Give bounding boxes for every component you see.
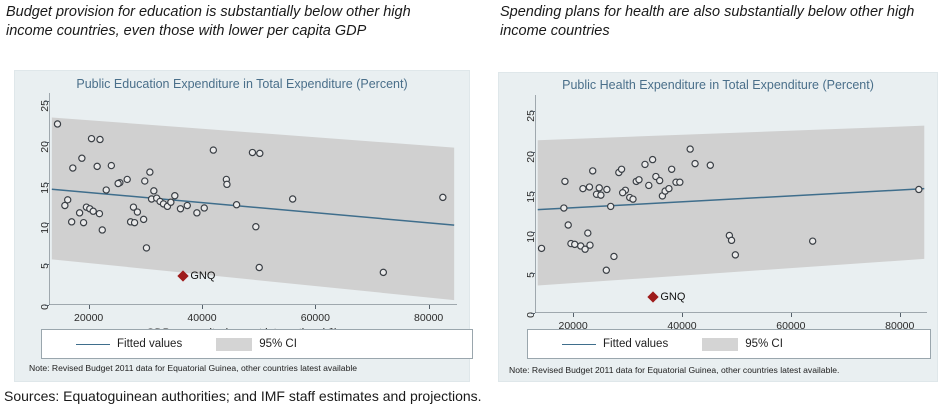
gnq-marker-education: GNQ <box>179 270 215 282</box>
x-tick-mark <box>682 313 683 317</box>
x-tick-label: 60000 <box>301 312 330 324</box>
fitted-values-label: Fitted values <box>603 338 668 350</box>
scatter-point <box>131 220 137 226</box>
scatter-point <box>608 203 614 209</box>
x-tick-label: 40000 <box>187 312 216 324</box>
scatter-point <box>115 180 121 186</box>
ci-band-swatch <box>216 338 252 351</box>
scatter-point <box>630 196 636 202</box>
y-tick-mark <box>45 142 49 143</box>
scatter-point <box>141 216 147 222</box>
plot-area-education <box>49 93 457 305</box>
scatter-point <box>124 176 130 182</box>
scatter-point <box>103 187 109 193</box>
scatter-point <box>69 219 75 225</box>
scatter-point <box>440 194 446 200</box>
x-tick-label: 20000 <box>74 312 103 324</box>
scatter-point <box>561 205 567 211</box>
diamond-icon <box>648 292 659 303</box>
scatter-point <box>565 222 571 228</box>
scatter-point <box>646 182 652 188</box>
scatter-point <box>687 146 693 152</box>
scatter-point <box>572 241 578 247</box>
scatter-point <box>636 177 642 183</box>
gnq-label-text: GNQ <box>190 270 215 282</box>
x-tick-mark <box>900 313 901 317</box>
scatter-point <box>728 237 734 243</box>
scatter-point <box>582 246 588 252</box>
y-tick-label: 15 <box>39 182 51 204</box>
y-tick-label: 15 <box>525 191 537 213</box>
scatter-point <box>692 161 698 167</box>
scatter-point <box>96 211 102 217</box>
scatter-point <box>590 168 596 174</box>
sources-line: Sources: Equatoguinean authorities; and … <box>4 388 482 404</box>
scatter-point <box>177 206 183 212</box>
scatter-point <box>596 185 602 191</box>
caption-health: Spending plans for health are also subst… <box>500 3 940 41</box>
y-tick-mark <box>45 305 49 306</box>
scatter-point <box>257 150 263 156</box>
plot-area-health <box>535 95 927 313</box>
figure-root: Budget provision for education is substa… <box>0 0 946 413</box>
scatter-point <box>580 186 586 192</box>
scatter-point <box>108 162 114 168</box>
fitted-line-swatch <box>76 344 110 345</box>
y-tick-mark <box>45 183 49 184</box>
y-tick-mark <box>45 101 49 102</box>
scatter-point <box>80 220 86 226</box>
scatter-point <box>642 161 648 167</box>
x-tick-mark <box>315 305 316 309</box>
scatter-point <box>210 147 216 153</box>
y-tick-mark <box>531 111 535 112</box>
scatter-point <box>611 253 617 259</box>
scatter-point <box>618 166 624 172</box>
scatter-point <box>79 155 85 161</box>
fitted-line-swatch <box>562 344 596 345</box>
ci-band <box>52 117 454 300</box>
scatter-point <box>538 245 544 251</box>
scatter-point <box>677 179 683 185</box>
scatter-point <box>603 267 609 273</box>
y-tick-mark <box>531 313 535 314</box>
gnq-label-text: GNQ <box>660 291 685 303</box>
scatter-point <box>290 196 296 202</box>
y-tick-mark <box>531 273 535 274</box>
y-tick-label: 5 <box>39 263 51 285</box>
scatter-point <box>586 184 592 190</box>
scatter-point <box>249 149 255 155</box>
scatter-point <box>233 202 239 208</box>
scatter-point <box>916 186 922 192</box>
scatter-point <box>650 156 656 162</box>
scatter-point <box>253 224 259 230</box>
ci-band-swatch <box>702 338 738 351</box>
ci-label: 95% CI <box>259 338 297 350</box>
scatter-point <box>669 166 675 172</box>
diamond-icon <box>178 271 189 282</box>
scatter-point <box>134 209 140 215</box>
scatter-point <box>585 230 591 236</box>
scatter-point <box>62 202 68 208</box>
x-tick-mark <box>202 305 203 309</box>
scatter-point <box>77 210 83 216</box>
x-tick-mark <box>791 313 792 317</box>
chart-title-education: Public Education Expenditure in Total Ex… <box>15 77 469 91</box>
scatter-point <box>142 178 148 184</box>
y-tick-label: 20 <box>39 141 51 163</box>
gnq-marker-health: GNQ <box>649 291 685 303</box>
scatter-point <box>810 238 816 244</box>
legend-education: Fitted values 95% CI <box>41 329 473 359</box>
scatter-point <box>562 178 568 184</box>
scatter-point <box>90 208 96 214</box>
y-tick-mark <box>45 223 49 224</box>
chart-title-health: Public Health Expenditure in Total Expen… <box>499 78 937 92</box>
scatter-point <box>604 186 610 192</box>
y-tick-mark <box>45 264 49 265</box>
ci-band <box>538 126 925 286</box>
scatter-point <box>707 162 713 168</box>
scatter-point <box>172 193 178 199</box>
scatter-point <box>620 190 626 196</box>
scatter-point <box>143 245 149 251</box>
ci-label: 95% CI <box>745 338 783 350</box>
y-tick-mark <box>531 152 535 153</box>
fitted-values-label: Fitted values <box>117 338 182 350</box>
scatter-point <box>147 169 153 175</box>
y-tick-label: 10 <box>525 231 537 253</box>
scatter-point <box>666 186 672 192</box>
y-tick-label: 0 <box>39 304 51 326</box>
scatter-point <box>657 177 663 183</box>
x-tick-mark <box>573 313 574 317</box>
y-tick-mark <box>531 232 535 233</box>
scatter-point <box>732 252 738 258</box>
caption-education: Budget provision for education is substa… <box>6 3 458 41</box>
scatter-point <box>54 121 60 127</box>
chart-panel-health: Public Health Expenditure in Total Expen… <box>498 72 938 382</box>
x-tick-label: 80000 <box>414 312 443 324</box>
scatter-point <box>70 165 76 171</box>
scatter-point <box>168 199 174 205</box>
note-education: Note: Revised Budget 2011 data for Equat… <box>29 363 357 373</box>
scatter-point <box>201 205 207 211</box>
chart-panel-education: Public Education Expenditure in Total Ex… <box>14 70 470 382</box>
scatter-point <box>224 181 230 187</box>
y-tick-label: 5 <box>525 272 537 294</box>
scatter-point <box>151 188 157 194</box>
y-tick-mark <box>531 192 535 193</box>
y-tick-label: 20 <box>525 151 537 173</box>
scatter-point <box>194 210 200 216</box>
scatter-point <box>184 202 190 208</box>
legend-health: Fitted values 95% CI <box>527 329 931 359</box>
scatter-point <box>99 227 105 233</box>
scatter-point <box>256 264 262 270</box>
scatter-point <box>88 136 94 142</box>
y-tick-label: 25 <box>39 100 51 122</box>
scatter-point <box>97 136 103 142</box>
note-health: Note: Revised Budget 2011 data for Equat… <box>509 365 839 375</box>
scatter-point <box>380 269 386 275</box>
x-tick-mark <box>89 305 90 309</box>
x-tick-mark <box>429 305 430 309</box>
y-tick-label: 25 <box>525 110 537 132</box>
scatter-point <box>598 192 604 198</box>
y-tick-label: 10 <box>39 222 51 244</box>
scatter-point <box>94 163 100 169</box>
